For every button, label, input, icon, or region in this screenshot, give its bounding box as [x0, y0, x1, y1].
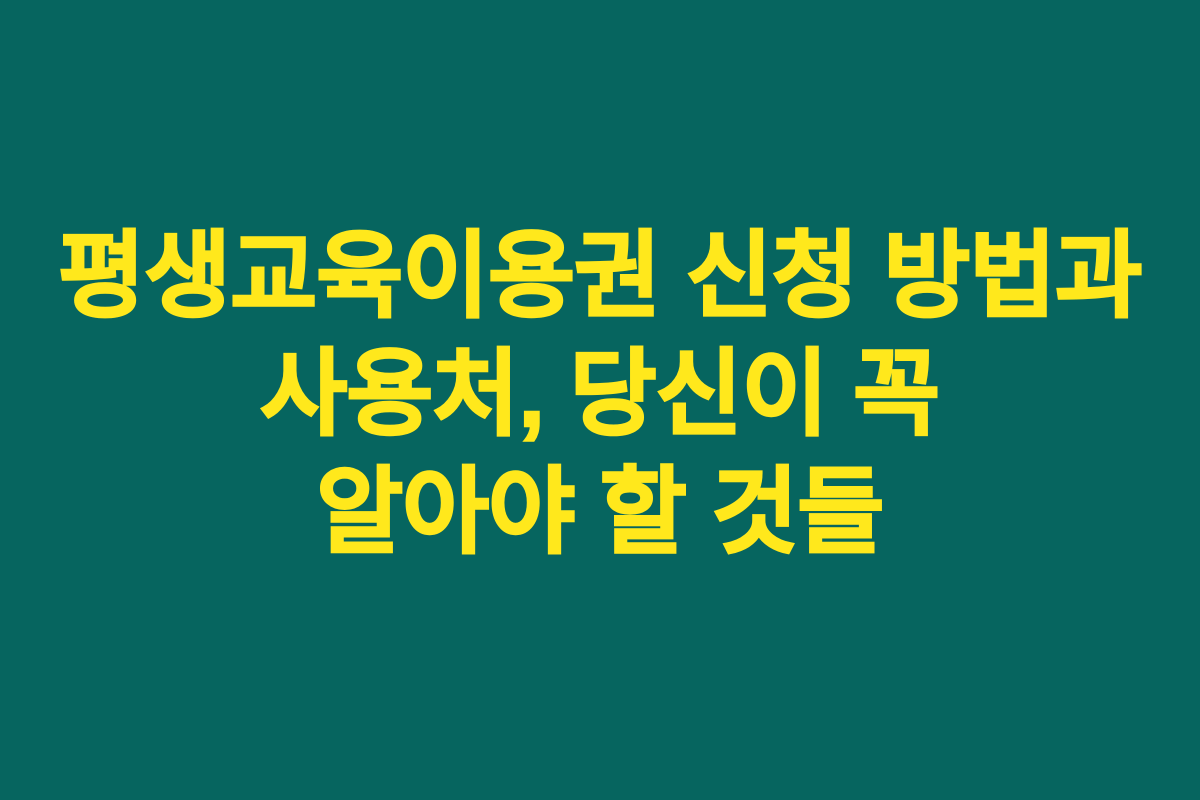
- thumbnail-card: 평생교육이용권 신청 방법과 사용처, 당신이 꼭 알아야 할 것들: [0, 0, 1200, 800]
- headline-line-2: 사용처, 당신이 꼭: [261, 335, 940, 453]
- headline-line-1: 평생교육이용권 신청 방법과: [59, 217, 1142, 335]
- headline-block: 평생교육이용권 신청 방법과 사용처, 당신이 꼭 알아야 할 것들: [20, 217, 1180, 571]
- headline-line-3: 알아야 할 것들: [316, 453, 883, 571]
